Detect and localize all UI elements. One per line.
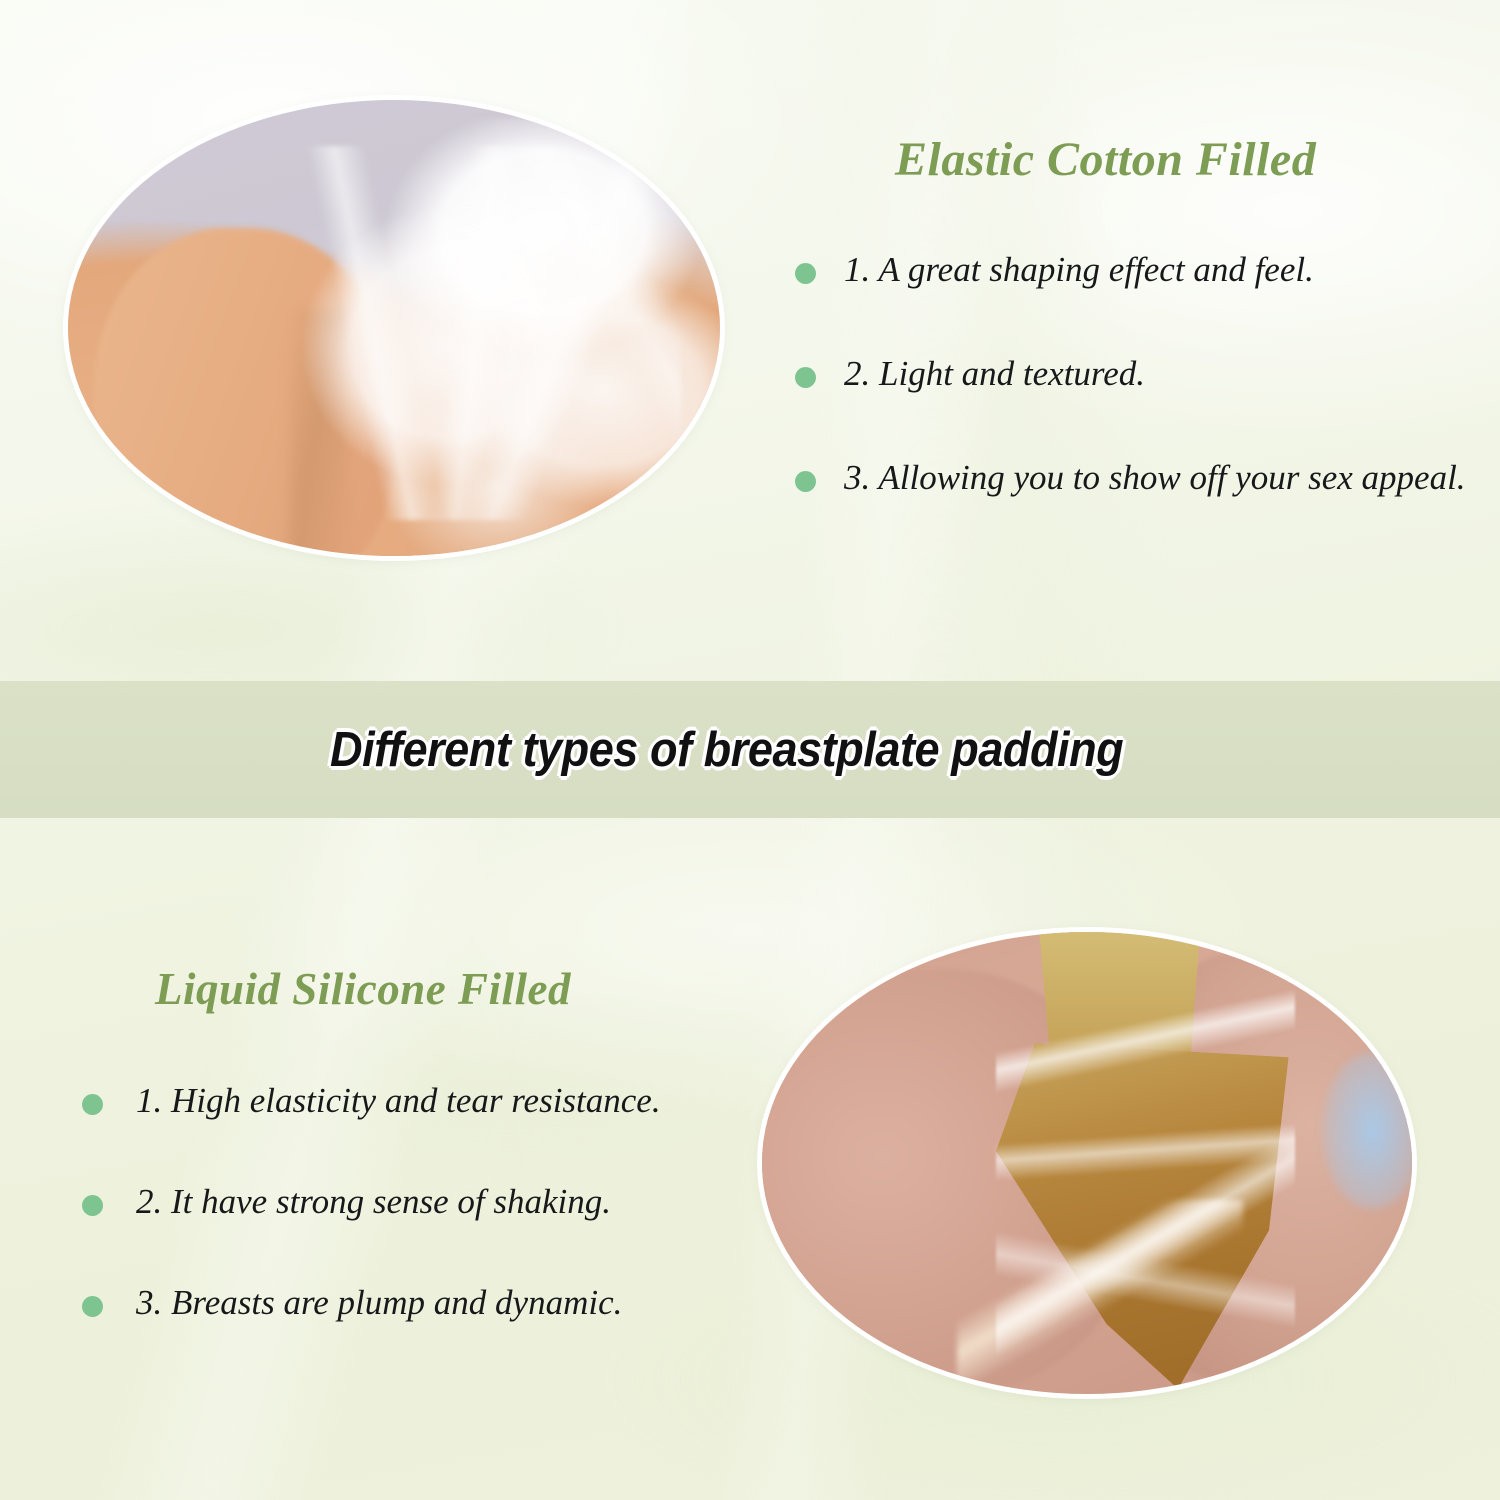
bullet-dot-icon (795, 367, 816, 388)
list-item: 3. Allowing you to show off your sex app… (795, 460, 1485, 564)
list-item: 1. A great shaping effect and feel. (795, 252, 1485, 356)
feature-text: 3. Allowing you to show off your sex app… (844, 460, 1466, 497)
section-title-liquid-silicone: Liquid Silicone Filled (155, 963, 571, 1015)
bullet-dot-icon (795, 263, 816, 284)
feature-text: 2. It have strong sense of shaking. (136, 1184, 611, 1221)
list-item: 2. It have strong sense of shaking. (82, 1184, 722, 1285)
bullet-dot-icon (82, 1296, 103, 1317)
silicone-photo-gel-specular (996, 960, 1295, 1357)
section-title-elastic-cotton: Elastic Cotton Filled (895, 132, 1316, 187)
banner-title: Different types of breastplate padding (330, 722, 1123, 778)
feature-text: 2. Light and textured. (844, 356, 1145, 393)
feature-text: 3. Breasts are plump and dynamic. (136, 1285, 622, 1322)
bullet-dot-icon (82, 1094, 103, 1115)
list-item: 1. High elasticity and tear resistance. (82, 1083, 722, 1184)
cotton-photo-fiber-strands (303, 146, 681, 520)
list-item: 2. Light and textured. (795, 356, 1485, 460)
center-banner-band: Different types of breastplate padding (0, 681, 1500, 818)
bullet-dot-icon (795, 471, 816, 492)
liquid-silicone-gel-photo (762, 932, 1412, 1394)
feature-text: 1. A great shaping effect and feel. (844, 252, 1314, 289)
feature-list-elastic-cotton: 1. A great shaping effect and feel. 2. L… (795, 252, 1485, 564)
bullet-dot-icon (82, 1195, 103, 1216)
list-item: 3. Breasts are plump and dynamic. (82, 1285, 722, 1386)
feature-text: 1. High elasticity and tear resistance. (136, 1083, 661, 1120)
feature-list-liquid-silicone: 1. High elasticity and tear resistance. … (82, 1083, 722, 1386)
cotton-fiber-fill-photo (68, 100, 720, 556)
infographic-page: Elastic Cotton Filled 1. A great shaping… (0, 0, 1500, 1500)
